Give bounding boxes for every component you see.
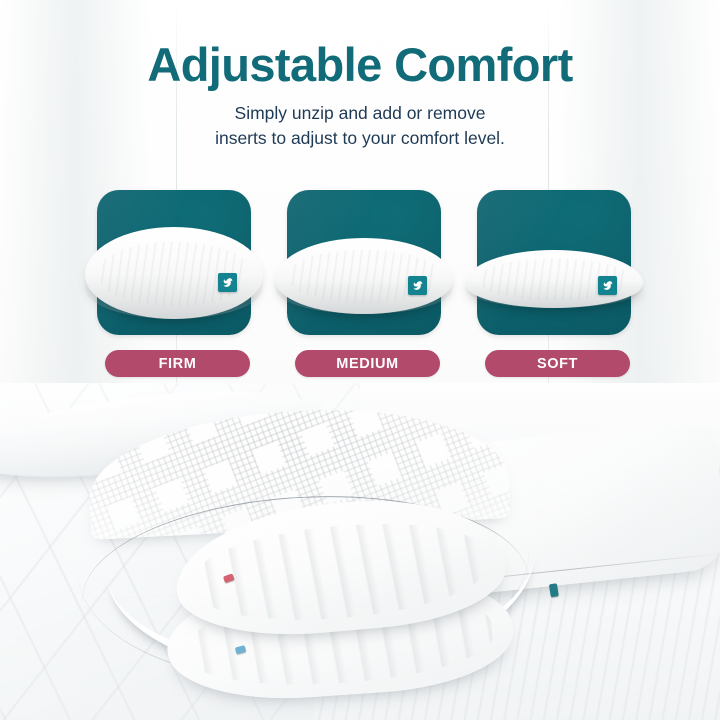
insert-fold-texture [192, 513, 489, 630]
product-photo [0, 383, 720, 720]
page-title: Adjustable Comfort [0, 40, 720, 89]
swan-logo-icon [408, 276, 427, 295]
firmness-card-soft[interactable] [477, 190, 631, 338]
page-subtitle: Simply unzip and add or remove inserts t… [0, 101, 720, 151]
pillow-illustration-medium [275, 238, 453, 314]
firmness-pill-firm[interactable]: FIRM [105, 350, 250, 377]
firmness-label-row: FIRM MEDIUM SOFT [0, 350, 720, 378]
firmness-pill-soft[interactable]: SOFT [485, 350, 630, 377]
firmness-card-firm[interactable] [97, 190, 251, 338]
firmness-card-medium[interactable] [287, 190, 441, 338]
firmness-pill-medium[interactable]: MEDIUM [295, 350, 440, 377]
pillow-illustration-soft [465, 250, 643, 308]
pillow-illustration-firm [85, 227, 263, 319]
swan-logo-icon [598, 276, 617, 295]
swan-logo-icon [218, 273, 237, 292]
firmness-card-row [0, 190, 720, 338]
page-subtitle-line-2: inserts to adjust to your comfort level. [0, 126, 720, 151]
outer-shell-cover [63, 399, 536, 685]
marketing-image: Adjustable Comfort Simply unzip and add … [0, 0, 720, 720]
page-subtitle-line-1: Simply unzip and add or remove [0, 101, 720, 126]
